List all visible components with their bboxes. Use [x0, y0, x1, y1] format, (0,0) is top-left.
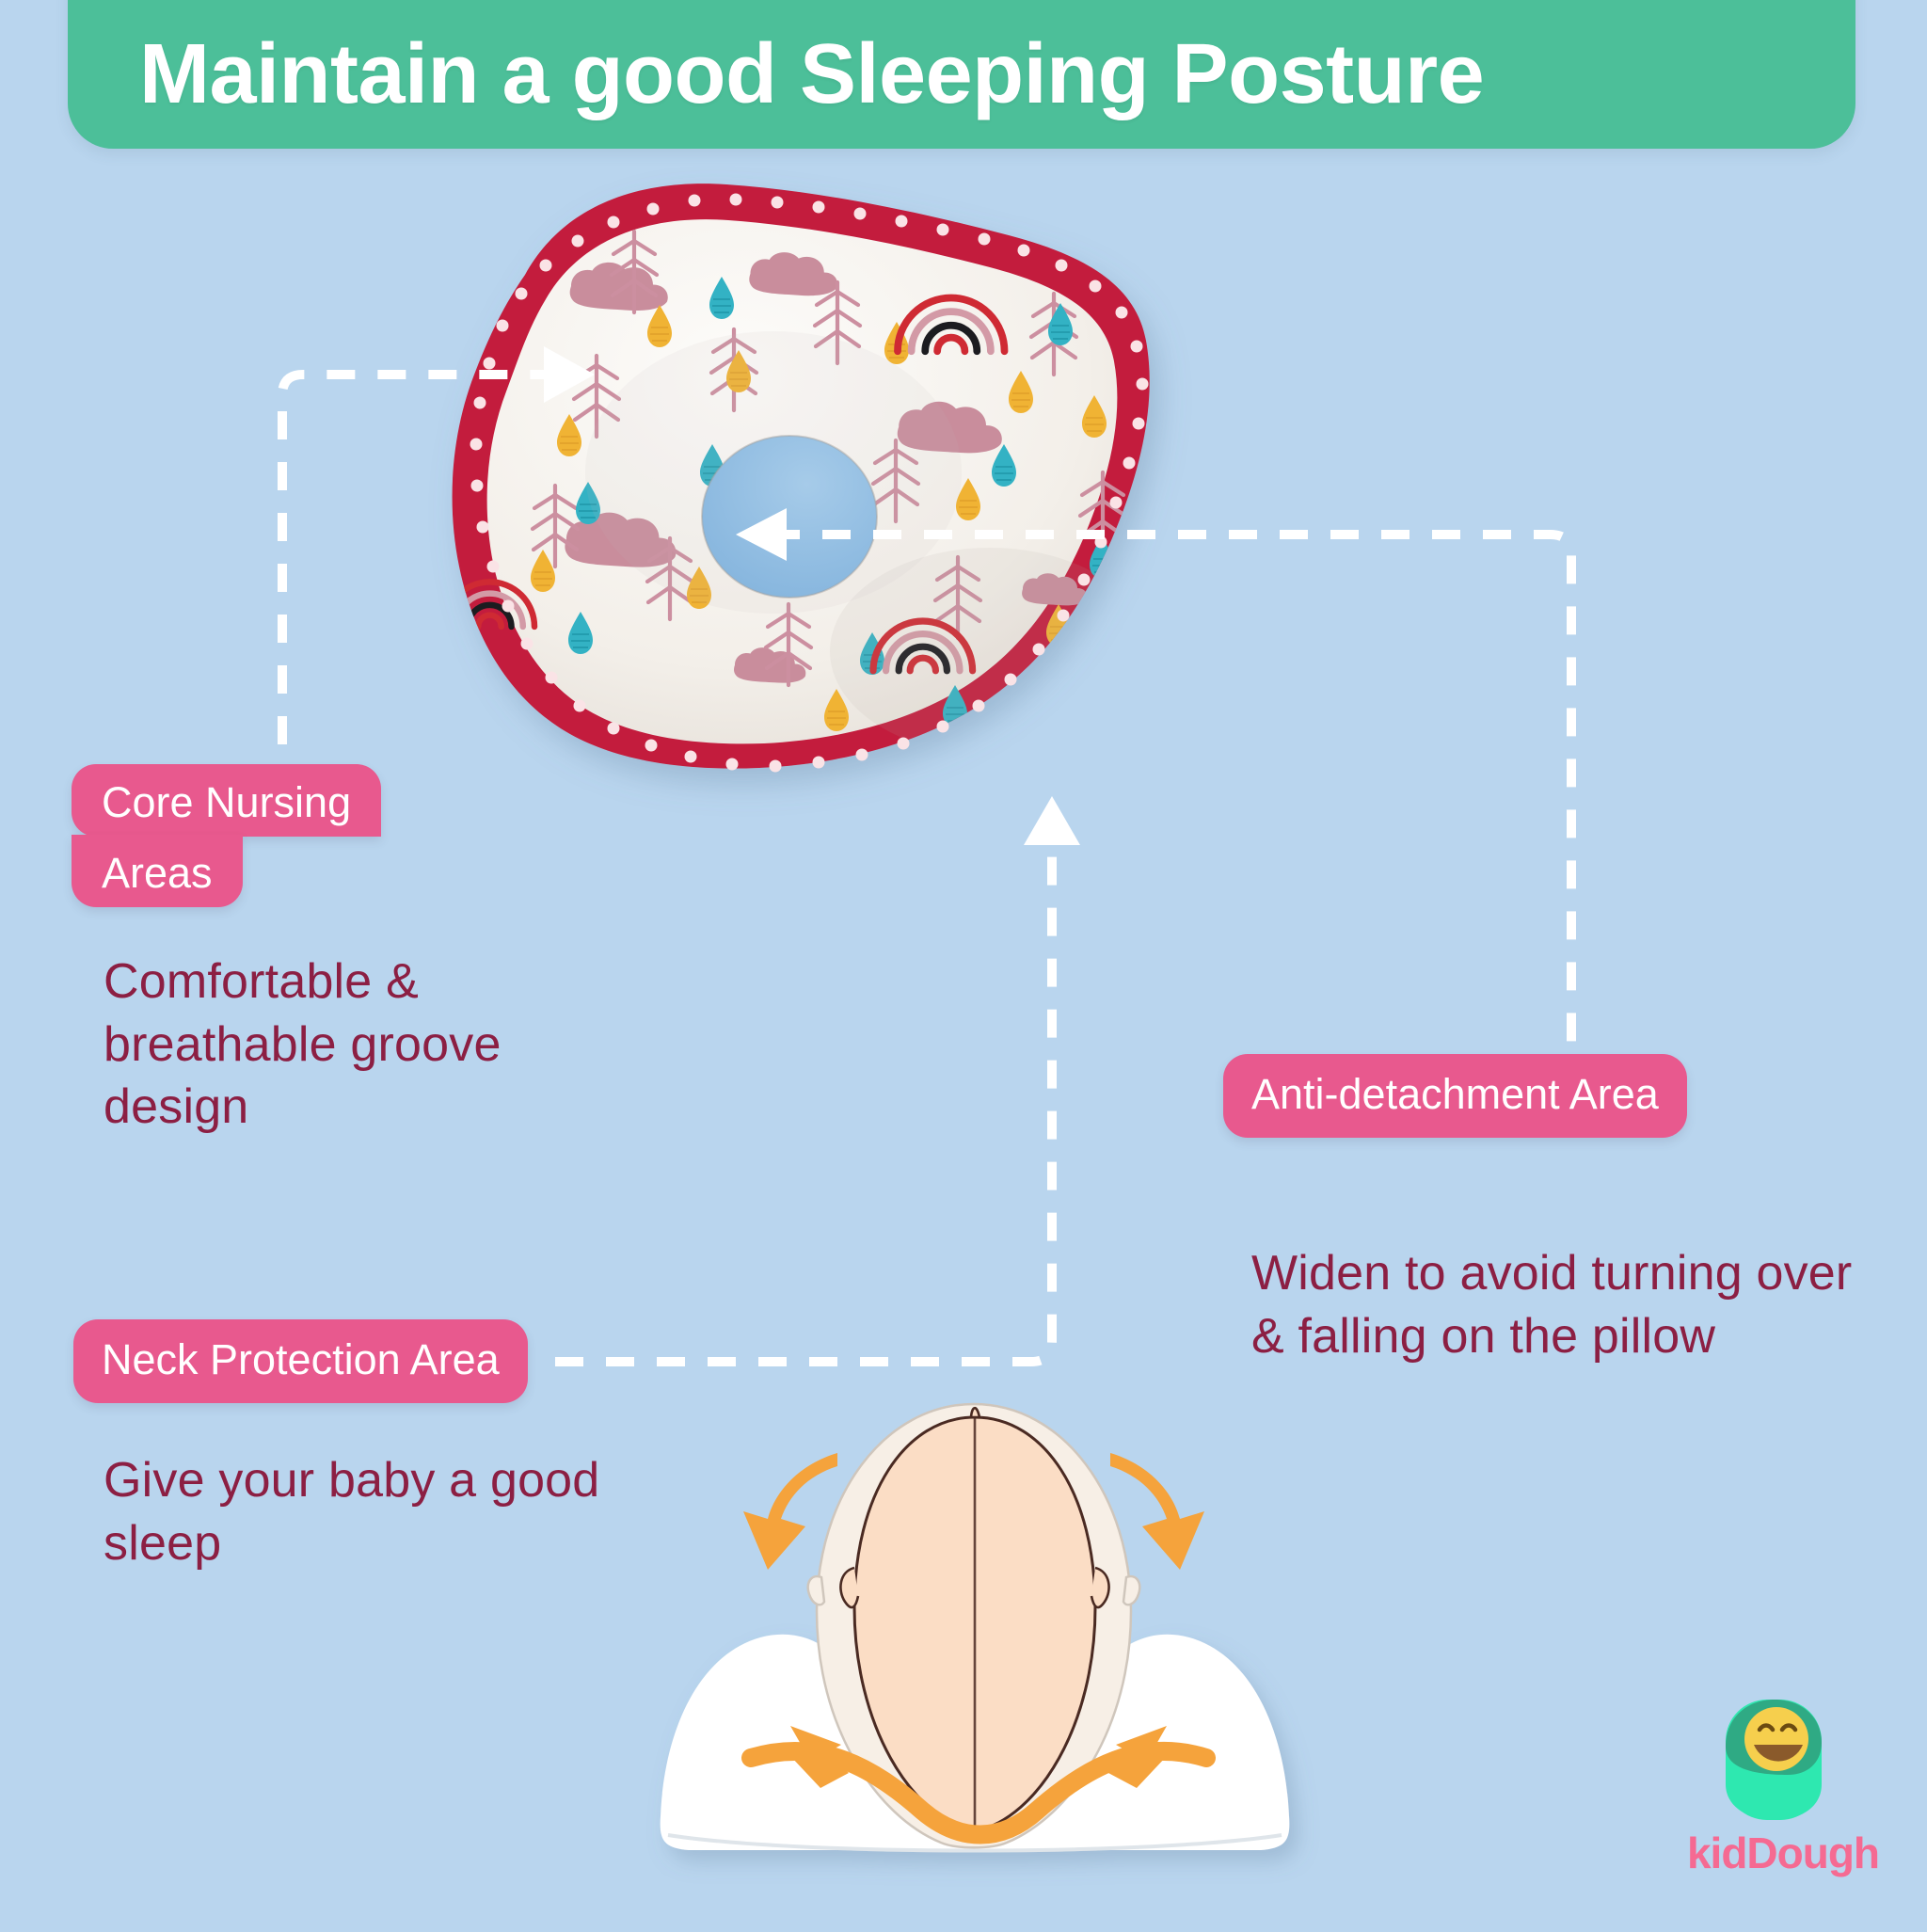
badge-core-nursing-line2: Areas — [72, 835, 243, 907]
body-core-nursing: Comfortable & breathable groove design — [104, 950, 630, 1139]
baby-head-illustration — [602, 1393, 1346, 1927]
product-pillow-image — [331, 162, 1178, 802]
body-neck-protection: Give your baby a good sleep — [104, 1449, 630, 1574]
brand-logo: kidDough — [1664, 1694, 1899, 1910]
header-banner: Maintain a good Sleeping Posture — [68, 0, 1855, 149]
pillow-illustration — [331, 162, 1178, 802]
page-title: Maintain a good Sleeping Posture — [68, 32, 1484, 149]
arrowhead-neck-protection — [1024, 796, 1080, 845]
body-anti-detachment: Widen to avoid turning over & falling on… — [1251, 1242, 1872, 1367]
swaddled-baby-icon — [1718, 1694, 1829, 1826]
baby-on-pillow-svg — [602, 1393, 1346, 1927]
pillow-groove-hole — [702, 436, 877, 598]
brand-name: kidDough — [1656, 1828, 1910, 1878]
badge-core-nursing-line1: Core Nursing — [72, 764, 381, 837]
badge-neck-protection: Neck Protection Area — [73, 1319, 528, 1403]
infographic-canvas: Maintain a good Sleeping Posture — [0, 0, 1927, 1927]
badge-anti-detachment: Anti-detachment Area — [1223, 1054, 1687, 1138]
badge-core-nursing: Core Nursing Areas — [72, 764, 448, 907]
